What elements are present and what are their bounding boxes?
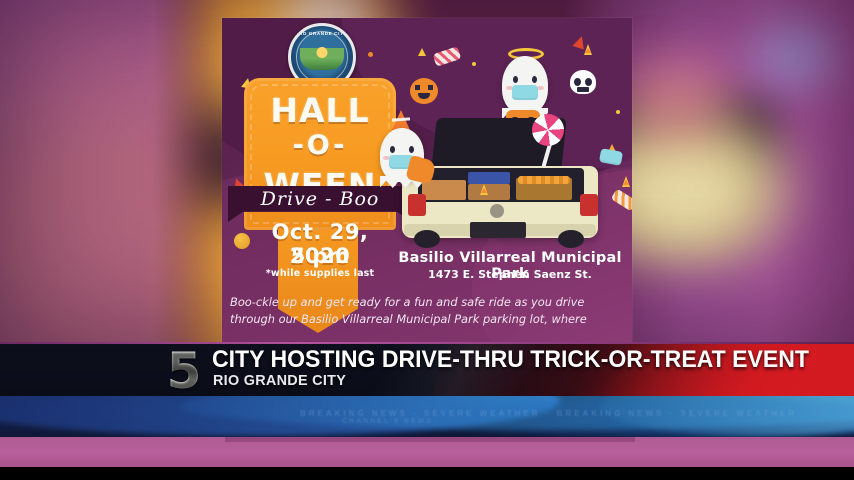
tail-light <box>408 194 426 216</box>
seal-top-text: RIO GRANDE CITY <box>291 31 353 36</box>
lollipop-icon <box>532 114 564 146</box>
bottom-black-bar <box>0 467 854 480</box>
poster-body-copy: Boo-ckle up and get ready for a fun and … <box>230 294 624 328</box>
event-time: 5 pm <box>244 244 396 268</box>
car-wheel <box>414 230 440 248</box>
channel-5-logo: 5 <box>152 348 214 394</box>
confetti-dot <box>472 62 476 66</box>
body-line-2: through our Basilio Villarreal Municipal… <box>230 311 624 328</box>
ghost-eye <box>409 146 414 153</box>
candy-corn-icon <box>622 176 630 187</box>
confetti-dot <box>616 110 620 114</box>
ghost-eye <box>390 146 395 153</box>
car-wheel <box>558 230 584 248</box>
bottom-pink-band-shadow <box>225 437 635 442</box>
skull-eye <box>585 78 592 86</box>
ghost-eye <box>513 76 518 83</box>
news-location: RIO GRANDE CITY <box>213 372 346 389</box>
ribbon-label: Drive - Boo <box>228 188 412 210</box>
skull-jaw <box>577 87 589 92</box>
candy-corn-icon <box>584 44 592 55</box>
pumpkin-mouth <box>418 93 430 99</box>
pumpkin-face <box>428 85 433 90</box>
ticker-text-primary: BREAKING NEWS · SEVERE WEATHER · BREAKIN… <box>300 409 797 418</box>
lower-third-top-border <box>0 342 854 344</box>
ghost-eye <box>532 76 537 83</box>
tail-light <box>580 194 598 216</box>
license-plate <box>470 222 526 238</box>
ticker-text-secondary: CHANNEL 5 NEWS <box>342 418 433 425</box>
seal-sun-icon <box>317 47 328 58</box>
ghost-face-mask <box>512 85 538 100</box>
news-headline: CITY HOSTING DRIVE-THRU TRICK-OR-TREAT E… <box>212 346 809 374</box>
supplies-note: *while supplies last <box>244 268 396 279</box>
confetti-dot <box>368 52 373 57</box>
ghost-angel <box>502 56 548 114</box>
ghost-blush <box>537 86 544 90</box>
venue-address: 1473 E. Stephen Saenz St. <box>390 268 630 281</box>
treat-box <box>422 180 466 200</box>
candy-corn-icon <box>480 184 488 195</box>
pumpkin-face <box>415 85 420 90</box>
event-poster: RIO GRANDE CITY THE CITY THAT WORKS HALL… <box>222 18 632 342</box>
screenshot-stage: RIO GRANDE CITY THE CITY THAT WORKS HALL… <box>0 0 854 480</box>
treats-pile <box>518 176 570 184</box>
title-line-2: -O- <box>244 130 396 161</box>
skull-icon <box>570 70 596 94</box>
skull-eye <box>574 78 581 86</box>
star-icon <box>418 48 426 56</box>
car-emblem <box>490 204 504 218</box>
pumpkin-icon <box>410 78 438 104</box>
treat-box <box>468 172 510 184</box>
title-line-1: HALL <box>244 91 396 130</box>
treat-box <box>468 184 510 200</box>
body-line-1: Boo-ckle up and get ready for a fun and … <box>230 294 624 311</box>
